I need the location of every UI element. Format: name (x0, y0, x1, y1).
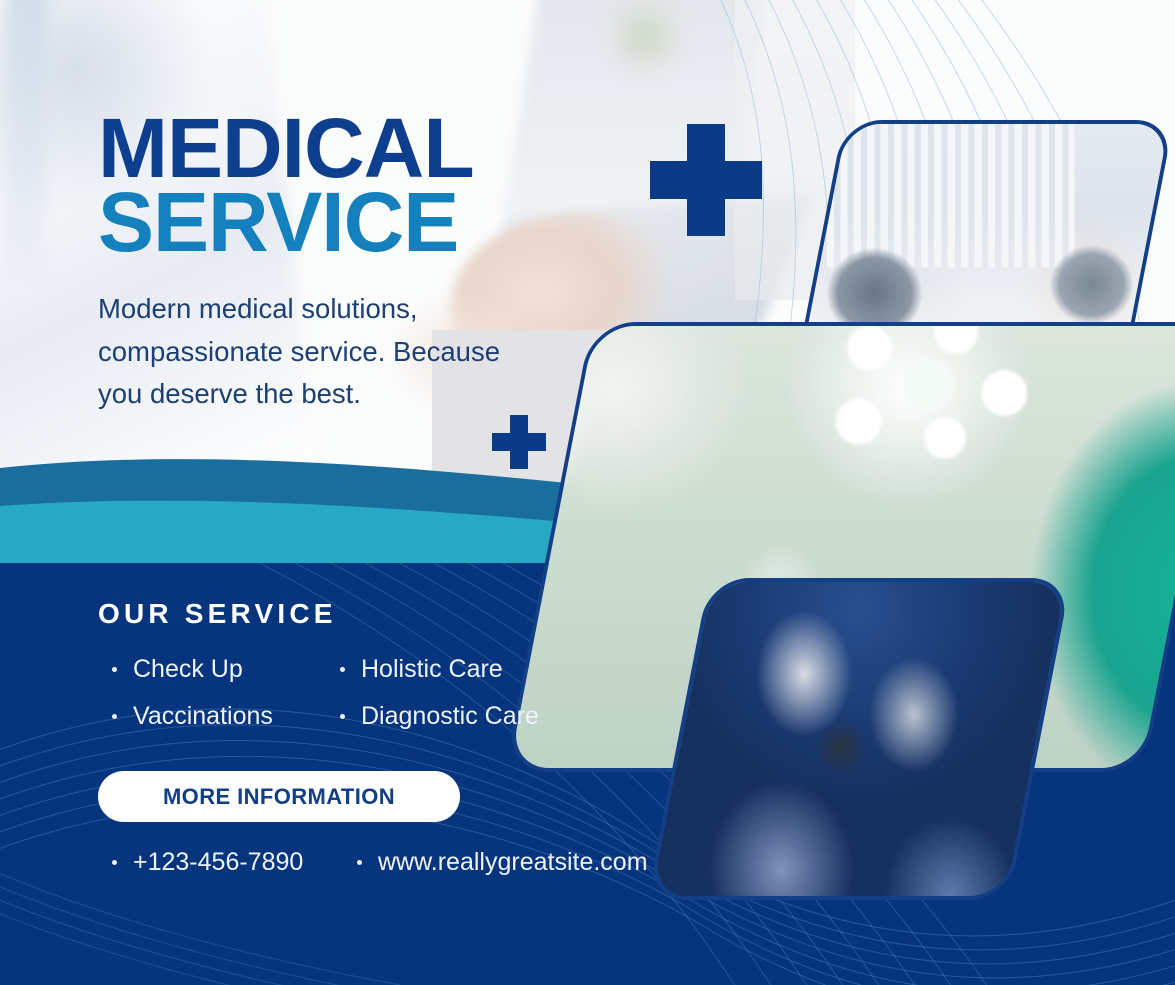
phone-number: +123-456-7890 (133, 848, 303, 877)
bullet-icon (112, 860, 117, 865)
service-item-vaccinations: Vaccinations (112, 693, 340, 740)
bullet-icon (357, 860, 362, 865)
services-heading: OUR SERVICE (98, 598, 337, 630)
bullet-icon (340, 667, 345, 672)
contact-website[interactable]: www.reallygreatsite.com (357, 848, 648, 877)
subtitle-text: Modern medical solutions, compassionate … (98, 288, 518, 416)
more-information-button[interactable]: MORE INFORMATION (98, 771, 460, 822)
medical-service-poster: MEDICAL SERVICE Modern medical solutions… (0, 0, 1175, 985)
page-title: MEDICAL SERVICE (98, 112, 474, 260)
service-label: Vaccinations (133, 702, 273, 731)
service-item-holistic-care: Holistic Care (340, 646, 503, 693)
services-list: Check Up Holistic Care Vaccinations Diag… (112, 646, 632, 740)
bullet-icon (340, 714, 345, 719)
website-url: www.reallygreatsite.com (378, 848, 648, 877)
medical-cross-icon-large (650, 124, 762, 236)
services-row: Check Up Holistic Care (112, 646, 632, 693)
contact-phone[interactable]: +123-456-7890 (112, 848, 357, 877)
contact-bar: +123-456-7890 www.reallygreatsite.com (112, 848, 648, 877)
services-row: Vaccinations Diagnostic Care (112, 693, 632, 740)
photo-card-surgery-team (647, 578, 1072, 900)
bullet-icon (112, 714, 117, 719)
surgery-team-image (647, 578, 1072, 900)
service-label: Check Up (133, 655, 243, 684)
service-item-diagnostic-care: Diagnostic Care (340, 693, 539, 740)
service-label: Diagnostic Care (361, 702, 539, 731)
title-line-service: SERVICE (98, 186, 474, 260)
medical-cross-icon-small (492, 415, 546, 469)
service-item-check-up: Check Up (112, 646, 340, 693)
service-label: Holistic Care (361, 655, 503, 684)
bullet-icon (112, 667, 117, 672)
